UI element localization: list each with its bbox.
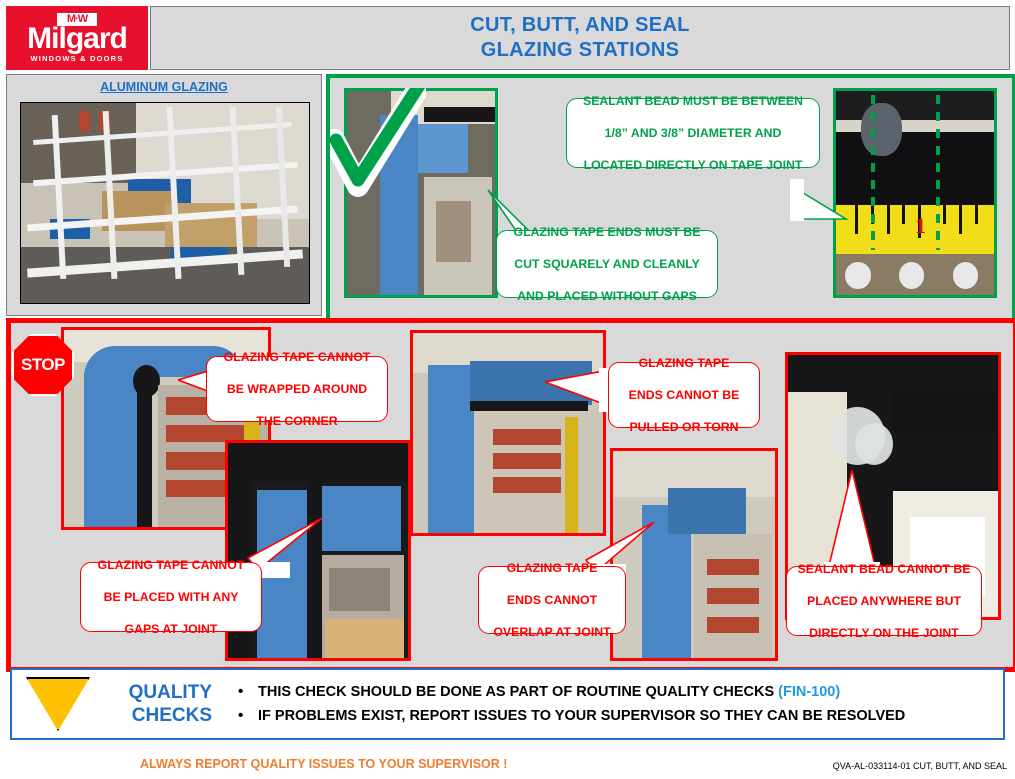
callout-line: GLAZING TAPE CANNOT xyxy=(207,349,387,365)
tape-wrapped-corner-callout: GLAZING TAPE CANNOT BE WRAPPED AROUND TH… xyxy=(206,356,388,422)
callout-line: LOCATED DIRECTLY ON TAPE JOINT xyxy=(567,157,819,173)
aluminum-glazing-label: ALUMINUM GLAZING xyxy=(7,80,321,94)
callout-line: GLAZING TAPE xyxy=(479,560,625,576)
callout-line: THE CORNER xyxy=(207,413,387,429)
callout-line: DIRECTLY ON THE JOINT xyxy=(787,625,981,641)
callout-line: PLACED ANYWHERE BUT xyxy=(787,593,981,609)
quality-check-text-main: THIS CHECK SHOULD BE DONE AS PART OF ROU… xyxy=(258,684,778,700)
quality-checks-label-line-2: CHECKS xyxy=(100,704,212,727)
milgard-logo: M·W Milgard WINDOWS & DOORS xyxy=(6,6,148,70)
callout-line: BE PLACED WITH ANY xyxy=(81,589,261,605)
callout-line: OVERLAP AT JOINT xyxy=(479,624,625,640)
quality-check-text: THIS CHECK SHOULD BE DONE AS PART OF ROU… xyxy=(258,680,840,704)
callout-line: SEALANT BEAD CANNOT BE xyxy=(787,561,981,577)
aluminum-glazing-photo xyxy=(20,102,310,304)
callout-line: BE WRAPPED AROUND xyxy=(207,381,387,397)
footer-message: ALWAYS REPORT QUALITY ISSUES TO YOUR SUP… xyxy=(140,757,507,771)
quality-checks-label-line-1: QUALITY xyxy=(100,681,212,704)
sealant-bead-spec-callout: SEALANT BEAD MUST BE BETWEEN 1/8” AND 3/… xyxy=(566,98,820,168)
callout-line: AND PLACED WITHOUT GAPS xyxy=(497,288,717,304)
callout-tail-pulled-torn xyxy=(545,368,615,414)
quality-check-item: • IF PROBLEMS EXIST, REPORT ISSUES TO YO… xyxy=(238,704,1003,728)
green-checkmark-icon xyxy=(330,88,426,198)
callout-line: GAPS AT JOINT xyxy=(81,621,261,637)
page-title-bar: CUT, BUTT, AND SEAL GLAZING STATIONS xyxy=(150,6,1010,70)
page-title: CUT, BUTT, AND SEAL GLAZING STATIONS xyxy=(470,13,689,63)
quality-checks-box: QUALITY CHECKS • THIS CHECK SHOULD BE DO… xyxy=(10,668,1005,740)
tape-gaps-at-joint-callout: GLAZING TAPE CANNOT BE PLACED WITH ANY G… xyxy=(80,562,262,632)
tape-pulled-torn-callout: GLAZING TAPE ENDS CANNOT BE PULLED OR TO… xyxy=(608,362,760,428)
quality-checks-label: QUALITY CHECKS xyxy=(100,681,212,727)
callout-line: GLAZING TAPE ENDS MUST BE xyxy=(497,224,717,240)
callout-line: GLAZING TAPE xyxy=(609,355,759,371)
sealant-off-joint-callout: SEALANT BEAD CANNOT BE PLACED ANYWHERE B… xyxy=(786,566,982,636)
callout-line: ENDS CANNOT xyxy=(479,592,625,608)
bullet-icon: • xyxy=(238,680,258,704)
quality-check-item: • THIS CHECK SHOULD BE DONE AS PART OF R… xyxy=(238,680,1003,704)
bullet-icon: • xyxy=(238,704,258,728)
page-title-line-1: CUT, BUTT, AND SEAL xyxy=(470,13,689,38)
tape-overlap-at-joint-callout: GLAZING TAPE ENDS CANNOT OVERLAP AT JOIN… xyxy=(478,566,626,634)
stop-sign-icon: STOP xyxy=(12,334,74,396)
callout-line: GLAZING TAPE CANNOT xyxy=(81,557,261,573)
page-title-line-2: GLAZING STATIONS xyxy=(470,38,689,63)
quality-checks-list: • THIS CHECK SHOULD BE DONE AS PART OF R… xyxy=(238,680,1003,728)
callout-line: 1/8” AND 3/8” DIAMETER AND xyxy=(567,125,819,141)
stop-sign-label: STOP xyxy=(21,355,65,375)
callout-line: CUT SQUARELY AND CLEANLY xyxy=(497,256,717,272)
quality-check-doc-code: (FIN-100) xyxy=(778,684,840,700)
logo-wordmark: Milgard xyxy=(27,24,127,54)
footer-document-id: QVA-AL-033114-01 CUT, BUTT, AND SEAL xyxy=(833,761,1007,771)
yellow-warning-triangle-icon xyxy=(26,677,90,731)
bad-pulled-torn-photo xyxy=(410,330,606,536)
aluminum-glazing-panel: ALUMINUM GLAZING xyxy=(6,74,322,316)
callout-line: SEALANT BEAD MUST BE BETWEEN xyxy=(567,93,819,109)
callout-line: ENDS CANNOT BE xyxy=(609,387,759,403)
callout-line: PULLED OR TORN xyxy=(609,419,759,435)
quality-check-text: IF PROBLEMS EXIST, REPORT ISSUES TO YOUR… xyxy=(258,704,905,728)
logo-tagline: WINDOWS & DOORS xyxy=(31,54,124,63)
glazing-tape-cut-callout: GLAZING TAPE ENDS MUST BE CUT SQUARELY A… xyxy=(496,230,718,298)
callout-tail-sealant-spec xyxy=(790,175,860,235)
